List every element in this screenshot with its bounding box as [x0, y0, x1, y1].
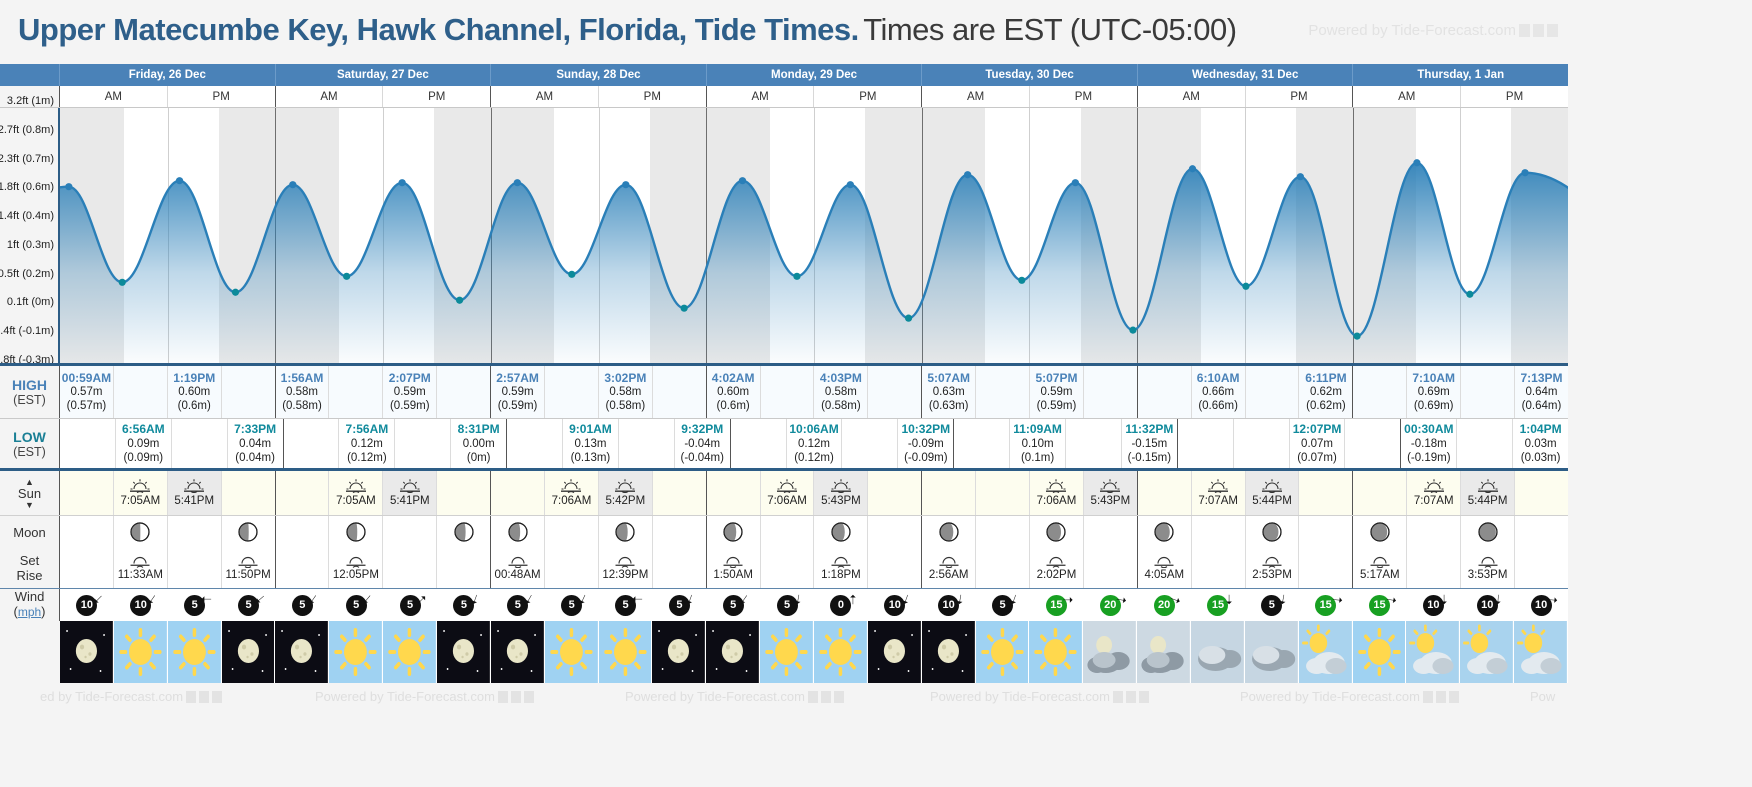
wind-cell-21: ➝15: [1191, 589, 1245, 621]
wind-cell-12: ➝5: [706, 589, 760, 621]
high-tide-cell-5: [329, 366, 383, 418]
low-tide-cell-12: [731, 419, 787, 468]
low-tide-cell-10: [619, 419, 675, 468]
ampm-cell-7: PM: [814, 86, 922, 107]
wind-cell-22: ➝5: [1245, 589, 1299, 621]
wind-cell-3: ➝5: [222, 589, 276, 621]
high-tide-cell-25: 7:10AM0.69m(0.69m): [1407, 366, 1461, 418]
moon-event-cell-2: [168, 548, 222, 588]
low-tide-point-9: [568, 271, 575, 278]
sunny-icon: [814, 621, 867, 683]
y-axis: 3.2ft (1m)2.7ft (0.8m)2.3ft (0.7m)1.8ft …: [0, 108, 60, 363]
weather-tile-15: [868, 621, 922, 683]
high-tide-cell-13: [761, 366, 815, 418]
moon-setrise-row-label: Set Rise: [0, 548, 60, 588]
wind-row-label: Wind (mph): [0, 589, 60, 621]
moon-phase-cell-6: [383, 516, 437, 548]
night-clear-icon: [437, 621, 490, 683]
y-axis-tick-0: 3.2ft (1m): [7, 95, 54, 107]
high-tide-cell-22: [1246, 366, 1300, 418]
weather-tile-8: [491, 621, 545, 683]
footer-watermarks: ed by Tide-Forecast.comPowered by Tide-F…: [0, 683, 1568, 713]
high-tide-cell-8: 2:57AM0.59m(0.59m): [491, 366, 545, 418]
wind-label: Wind: [15, 589, 45, 604]
moon-event-cell-18: 2:02PM: [1030, 548, 1084, 588]
low-tide-cell-8: [507, 419, 563, 468]
ampm-cell-8: AM: [922, 86, 1030, 107]
high-tide-cell-2: 1:19PM0.60m(0.6m): [168, 366, 222, 418]
night-cloudy-icon: [1137, 621, 1190, 683]
sun-cell-25: 7:07AM: [1407, 471, 1461, 515]
sun-cell-11: [653, 471, 707, 515]
low-tide-cell-4: [284, 419, 340, 468]
moon-phase-cell-24: [1353, 516, 1407, 548]
ampm-cell-0: AM: [60, 86, 168, 107]
wind-direction-arrow-icon-25: ➝: [1438, 594, 1451, 605]
wind-direction-arrow-icon-13: ➝: [791, 593, 806, 606]
wind-cell-11: ➝5: [652, 589, 706, 621]
high-tide-cell-7: [437, 366, 491, 418]
moon-phase-cell-0: [60, 516, 114, 548]
day-header-corner: [0, 64, 60, 86]
high-tide-row-label: HIGH (EST): [0, 366, 60, 418]
low-tide-point-13: [793, 273, 800, 280]
low-tide-point-25: [1466, 291, 1473, 298]
sunset-icon: [183, 478, 205, 493]
day-header-1: Saturday, 27 Dec: [276, 64, 492, 86]
moon-setrise-row: Set Rise 11:33AM11:50PM12:05PM00:48AM12:…: [0, 548, 1568, 588]
low-tide-cell-5: 7:56AM0.12m(0.12m): [339, 419, 395, 468]
cloudy-icon: [1245, 621, 1298, 683]
tide-plot-area: [60, 108, 1568, 363]
moon-phase-cell-9: [545, 516, 599, 548]
moon-phase-icon: [346, 522, 366, 542]
sun-cell-18: 7:06AM: [1030, 471, 1084, 515]
moon-event-cell-20: 4:05AM: [1138, 548, 1192, 588]
sunset-icon: [399, 478, 421, 493]
high-tide-cell-26: [1461, 366, 1515, 418]
night-clear-icon: [491, 621, 544, 683]
low-tide-row-label: LOW (EST): [0, 419, 60, 468]
high-tide-cell-10: 3:02PM0.58m(0.58m): [599, 366, 653, 418]
sunny-icon: [329, 621, 382, 683]
low-tide-cell-1: 6:56AM0.09m(0.09m): [116, 419, 172, 468]
moon-phase-cell-1: [114, 516, 168, 548]
sun-cell-16: [922, 471, 976, 515]
weather-tile-26: [1460, 621, 1514, 683]
sun-cell-2: 5:41PM: [168, 471, 222, 515]
wind-cell-15: ➝10: [868, 589, 922, 621]
low-tide-cells: 6:56AM0.09m(0.09m)7:33PM0.04m(0.04m)7:56…: [60, 419, 1568, 468]
footer-watermark-5: Pow: [1530, 689, 1555, 704]
day-header-5: Wednesday, 31 Dec: [1138, 64, 1354, 86]
sunrise-arrow-icon: ▲: [25, 478, 34, 486]
weather-tile-23: [1299, 621, 1353, 683]
wind-direction-arrow-icon-23: ➝: [1331, 593, 1343, 607]
ampm-cell-3: PM: [383, 86, 491, 107]
wind-direction-arrow-icon-22: ➝: [1276, 593, 1291, 606]
day-header-2: Sunday, 28 Dec: [491, 64, 707, 86]
moon-phase-icon: [723, 522, 743, 542]
high-tide-point-10: [622, 181, 629, 188]
wind-cell-8: ➝5: [491, 589, 545, 621]
sun-cell-0: [60, 471, 114, 515]
moon-phase-cell-18: [1030, 516, 1084, 548]
sun-cells: 7:05AM5:41PM7:05AM5:41PM7:06AM5:42PM7:06…: [60, 471, 1568, 515]
sunset-icon: [1477, 478, 1499, 493]
moon-phase-cell-21: [1192, 516, 1246, 548]
low-tide-cell-19: 11:32PM-0.15m(-0.15m): [1122, 419, 1178, 468]
low-tide-cell-0: [60, 419, 116, 468]
moon-phase-icon: [508, 522, 528, 542]
weather-tile-18: [1029, 621, 1083, 683]
night-clear-icon: [652, 621, 705, 683]
low-tide-cell-11: 9:32PM-0.04m(-0.04m): [675, 419, 731, 468]
wind-cell-24: ➝15: [1353, 589, 1407, 621]
ampm-cell-11: PM: [1246, 86, 1354, 107]
high-tide-cell-16: 5:07AM0.63m(0.63m): [922, 366, 976, 418]
moon-row: Moon: [0, 515, 1568, 548]
high-tide-cell-23: 6:11PM0.62m(0.62m): [1299, 366, 1353, 418]
low-tide-cell-18: [1066, 419, 1122, 468]
low-tide-cell-22: 12:07PM0.07m(0.07m): [1290, 419, 1346, 468]
moon-event-cell-22: 2:53PM: [1246, 548, 1300, 588]
wind-cell-19: ➝20: [1083, 589, 1137, 621]
high-tide-point-6: [399, 179, 406, 186]
moon-phase-cell-3: [222, 516, 276, 548]
sun-cell-3: [222, 471, 276, 515]
weather-tile-16: [922, 621, 976, 683]
moon-phase-icon: [615, 522, 635, 542]
sun-cell-1: 7:05AM: [114, 471, 168, 515]
wind-direction-arrow-icon-10: ➝: [632, 593, 643, 606]
sunset-icon: [1099, 478, 1121, 493]
low-tide-cell-20: [1178, 419, 1234, 468]
moon-event-cell-10: 12:39PM: [599, 548, 653, 588]
high-tide-cell-3: [222, 366, 276, 418]
weather-tile-2: [168, 621, 222, 683]
wind-direction-arrow-icon-14: ➝: [846, 594, 859, 605]
cloudy-icon: [1191, 621, 1244, 683]
moon-phase-cell-12: [707, 516, 761, 548]
high-tide-cell-11: [653, 366, 707, 418]
moonrise-icon: [722, 554, 744, 568]
wind-cell-23: ➝15: [1299, 589, 1353, 621]
sun-cell-14: 5:43PM: [814, 471, 868, 515]
wind-cell-25: ➝10: [1406, 589, 1460, 621]
sun-cell-22: 5:44PM: [1246, 471, 1300, 515]
day-header-0: Friday, 26 Dec: [60, 64, 276, 86]
partly-cloudy-icon: [1460, 621, 1513, 683]
day-header-4: Tuesday, 30 Dec: [922, 64, 1138, 86]
low-tide-cell-14: [842, 419, 898, 468]
sun-cell-7: [437, 471, 491, 515]
moon-phase-cell-2: [168, 516, 222, 548]
sun-cell-27: [1515, 471, 1568, 515]
partly-cloudy-icon: [1514, 621, 1567, 683]
wind-direction-arrow-icon-2: ➝: [201, 593, 212, 606]
moonset-icon: [830, 554, 852, 568]
wind-cell-2: ➝5: [168, 589, 222, 621]
sun-cell-20: [1138, 471, 1192, 515]
moon-phase-cell-20: [1138, 516, 1192, 548]
moon-phase-cell-14: [814, 516, 868, 548]
ampm-cell-6: AM: [707, 86, 815, 107]
wind-direction-arrow-icon-27: ➝: [1547, 593, 1559, 607]
wind-direction-arrow-icon-20: ➝: [1168, 592, 1183, 608]
sun-cell-8: [491, 471, 545, 515]
night-clear-icon: [222, 621, 275, 683]
weather-tile-3: [222, 621, 276, 683]
moonrise-icon: [1153, 554, 1175, 568]
y-axis-tick-8: -0.4ft (-0.1m): [0, 325, 54, 337]
moon-phase-icon: [1370, 522, 1390, 542]
wind-cell-5: ➝5: [329, 589, 383, 621]
partly-cloudy-icon: [1406, 621, 1459, 683]
night-clear-icon: [922, 621, 975, 683]
page-title: Upper Matecumbe Key, Hawk Channel, Flori…: [18, 12, 1237, 48]
moonset-icon: [129, 554, 151, 568]
weather-tile-11: [652, 621, 706, 683]
moon-phase-icon: [1154, 522, 1174, 542]
moon-phase-cell-23: [1299, 516, 1353, 548]
night-clear-icon: [60, 621, 113, 683]
high-tide-point-24: [1413, 159, 1420, 166]
weather-tile-20: [1137, 621, 1191, 683]
low-tide-cell-21: [1234, 419, 1290, 468]
weather-tile-19: [1083, 621, 1137, 683]
ampm-cell-13: PM: [1461, 86, 1568, 107]
wind-cell-0: ➝10: [60, 589, 114, 621]
moon-label: Moon: [13, 525, 46, 540]
wind-direction-arrow-icon-24: ➝: [1385, 592, 1398, 607]
high-tide-point-20: [1189, 165, 1196, 172]
wind-cells: ➝10➝10➝5➝5➝5➝5➝5➝5➝5➝5➝5➝5➝5➝5➝0➝10➝10➝5…: [60, 589, 1568, 621]
sunny-icon: [976, 621, 1029, 683]
page-header: Upper Matecumbe Key, Hawk Channel, Flori…: [0, 0, 1568, 64]
wind-cell-18: ➝15: [1029, 589, 1083, 621]
sun-cell-15: [868, 471, 922, 515]
sun-row: ▲ Sun ▼ 7:05AM5:41PM7:05AM5:41PM7:06AM5:…: [0, 468, 1568, 515]
high-tide-point-12: [739, 177, 746, 184]
moon-phase-icon: [1478, 522, 1498, 542]
moonrise-icon: [237, 554, 259, 568]
moon-phase-cell-15: [868, 516, 922, 548]
low-tide-cell-15: 10:32PM-0.09m(-0.09m): [898, 419, 954, 468]
sunny-icon: [545, 621, 598, 683]
sun-cell-4: [276, 471, 330, 515]
day-header-6: Thursday, 1 Jan: [1353, 64, 1568, 86]
page-title-timezone: Times are EST (UTC-05:00): [863, 12, 1236, 47]
moon-phase-cell-16: [922, 516, 976, 548]
moon-setrise-cells: 11:33AM11:50PM12:05PM00:48AM12:39PM1:50A…: [60, 548, 1568, 588]
high-unit: (EST): [13, 393, 46, 407]
moon-event-cell-6: [383, 548, 437, 588]
wind-direction-arrow-icon-26: ➝: [1492, 594, 1506, 606]
footer-watermark-3: Powered by Tide-Forecast.com: [930, 689, 1149, 704]
sun-cell-10: 5:42PM: [599, 471, 653, 515]
wind-cell-13: ➝5: [760, 589, 814, 621]
moon-event-cell-12: 1:50AM: [707, 548, 761, 588]
moon-event-cell-19: [1084, 548, 1138, 588]
moon-phase-cell-8: [491, 516, 545, 548]
sunrise-icon: [345, 478, 367, 493]
moon-phase-cell-5: [329, 516, 383, 548]
weather-tile-6: [383, 621, 437, 683]
weather-tile-14: [814, 621, 868, 683]
moon-event-cell-3: 11:50PM: [222, 548, 276, 588]
sunset-arrow-icon: ▼: [25, 501, 34, 509]
high-tide-cells: 00:59AM0.57m(0.57m)1:19PM0.60m(0.6m)1:56…: [60, 366, 1568, 418]
sun-cell-9: 7:06AM: [545, 471, 599, 515]
high-tide-cell-19: [1084, 366, 1138, 418]
wind-cell-6: ➝5: [383, 589, 437, 621]
high-tide-point-22: [1297, 173, 1304, 180]
high-tide-row: HIGH (EST) 00:59AM0.57m(0.57m)1:19PM0.60…: [0, 363, 1568, 418]
wind-direction-arrow-icon-19: ➝: [1115, 592, 1128, 607]
low-tide-cell-26: 1:04PM0.03m(0.03m): [1513, 419, 1568, 468]
low-tide-point-3: [232, 289, 239, 296]
wind-cell-7: ➝5: [437, 589, 491, 621]
moonrise-icon: [1369, 554, 1391, 568]
wind-cell-10: ➝5: [599, 589, 653, 621]
high-tide-cell-27: 7:13PM0.64m(0.64m): [1515, 366, 1568, 418]
high-tide-cell-20: [1138, 366, 1192, 418]
night-clear-icon: [706, 621, 759, 683]
high-tide-point-26: [1521, 169, 1528, 176]
high-tide-cell-1: [114, 366, 168, 418]
low-tide-cell-9: 9:01AM0.13m(0.13m): [563, 419, 619, 468]
sunrise-icon: [1207, 478, 1229, 493]
moon-phase-icon: [238, 522, 258, 542]
moon-row-label: Moon: [0, 516, 60, 548]
sunny-icon: [760, 621, 813, 683]
moon-phase-icon: [831, 522, 851, 542]
page-title-main: Upper Matecumbe Key, Hawk Channel, Flori…: [18, 12, 859, 47]
moon-phase-cell-7: [437, 516, 491, 548]
sunrise-icon: [129, 478, 151, 493]
high-tide-point-0: [65, 183, 72, 190]
high-tide-cell-14: 4:03PM0.58m(0.58m): [814, 366, 868, 418]
footer-watermark-2: Powered by Tide-Forecast.com: [625, 689, 844, 704]
wind-row: Wind (mph) ➝10➝10➝5➝5➝5➝5➝5➝5➝5➝5➝5➝5➝5➝…: [0, 588, 1568, 621]
moon-phase-cell-19: [1084, 516, 1138, 548]
moon-phase-icon: [454, 522, 474, 542]
moon-phase-icon: [939, 522, 959, 542]
high-tide-cell-4: 1:56AM0.58m(0.58m): [276, 366, 330, 418]
rise-label: Rise: [16, 568, 42, 583]
ampm-bar: AMPMAMPMAMPMAMPMAMPMAMPMAMPM: [0, 86, 1568, 108]
sun-row-label: ▲ Sun ▼: [0, 471, 60, 515]
partly-cloudy-icon: [1299, 621, 1352, 683]
moon-event-cell-5: 12:05PM: [329, 548, 383, 588]
sun-label: Sun: [18, 486, 41, 501]
sunrise-icon: [1423, 478, 1445, 493]
moon-phase-cell-26: [1461, 516, 1515, 548]
moon-event-cell-26: 3:53PM: [1461, 548, 1515, 588]
moonrise-icon: [507, 554, 529, 568]
tide-area-fill: [60, 163, 1568, 363]
high-tide-cell-0: 00:59AM0.57m(0.57m): [60, 366, 114, 418]
low-tide-cell-24: 00:30AM-0.18m(-0.19m): [1401, 419, 1457, 468]
high-tide-point-18: [1072, 179, 1079, 186]
footer-watermark-1: Powered by Tide-Forecast.com: [315, 689, 534, 704]
ampm-cell-9: PM: [1030, 86, 1138, 107]
wind-cell-26: ➝10: [1460, 589, 1514, 621]
weather-tile-24: [1353, 621, 1407, 683]
low-tide-cell-2: [172, 419, 228, 468]
wind-direction-arrow-icon-18: ➝: [1062, 593, 1073, 606]
ampm-cell-10: AM: [1138, 86, 1246, 107]
moonrise-icon: [938, 554, 960, 568]
weather-cells: [60, 621, 1568, 683]
moonset-icon: [1045, 554, 1067, 568]
weather-tile-12: [706, 621, 760, 683]
moon-event-cell-23: [1299, 548, 1353, 588]
low-tide-point-7: [456, 297, 463, 304]
night-clear-icon: [275, 621, 328, 683]
ampm-cell-2: AM: [276, 86, 384, 107]
moon-phase-cell-25: [1407, 516, 1461, 548]
low-unit: (EST): [13, 445, 46, 459]
sunrise-icon: [1045, 478, 1067, 493]
sun-cell-17: [976, 471, 1030, 515]
moon-event-cell-8: 00:48AM: [491, 548, 545, 588]
sunny-icon: [383, 621, 436, 683]
moon-event-cell-15: [868, 548, 922, 588]
moon-phase-cell-27: [1515, 516, 1568, 548]
moon-event-cell-11: [653, 548, 707, 588]
weather-tile-13: [760, 621, 814, 683]
sunny-icon: [599, 621, 652, 683]
moon-phase-cell-13: [761, 516, 815, 548]
wind-cell-9: ➝5: [545, 589, 599, 621]
weather-row-pad: [0, 621, 60, 683]
low-tide-cell-23: [1345, 419, 1401, 468]
weather-tile-27: [1514, 621, 1568, 683]
moonset-icon: [345, 554, 367, 568]
moon-event-cell-9: [545, 548, 599, 588]
ampm-cell-4: AM: [491, 86, 599, 107]
low-tide-row: LOW (EST) 6:56AM0.09m(0.09m)7:33PM0.04m(…: [0, 418, 1568, 468]
high-label: HIGH: [12, 377, 47, 393]
high-tide-cell-9: [545, 366, 599, 418]
header-watermark: Powered by Tide-Forecast.com: [1308, 22, 1558, 39]
moon-phase-cells: [60, 516, 1568, 548]
right-padding: [1568, 0, 1752, 787]
low-tide-cell-17: 11:09AM0.10m(0.1m): [1010, 419, 1066, 468]
sunset-icon: [1261, 478, 1283, 493]
footer-watermark-0: ed by Tide-Forecast.com: [40, 689, 222, 704]
high-tide-point-8: [514, 179, 521, 186]
sunny-icon: [168, 621, 221, 683]
sun-cell-13: 7:06AM: [761, 471, 815, 515]
sunrise-icon: [776, 478, 798, 493]
day-header-bar: Friday, 26 Dec Saturday, 27 Dec Sunday, …: [0, 64, 1568, 86]
moon-phase-cell-4: [276, 516, 330, 548]
moon-phase-icon: [1262, 522, 1282, 542]
moon-event-cell-25: [1407, 548, 1461, 588]
high-tide-point-14: [847, 181, 854, 188]
low-tide-point-15: [905, 315, 912, 322]
sun-cell-5: 7:05AM: [329, 471, 383, 515]
ampm-cells: AMPMAMPMAMPMAMPMAMPMAMPMAMPM: [60, 86, 1568, 107]
wind-cell-16: ➝10: [922, 589, 976, 621]
sun-cell-24: [1353, 471, 1407, 515]
y-axis-tick-1: 2.7ft (0.8m): [0, 124, 54, 136]
wind-unit-link[interactable]: mph: [18, 605, 41, 619]
sun-cell-19: 5:43PM: [1084, 471, 1138, 515]
